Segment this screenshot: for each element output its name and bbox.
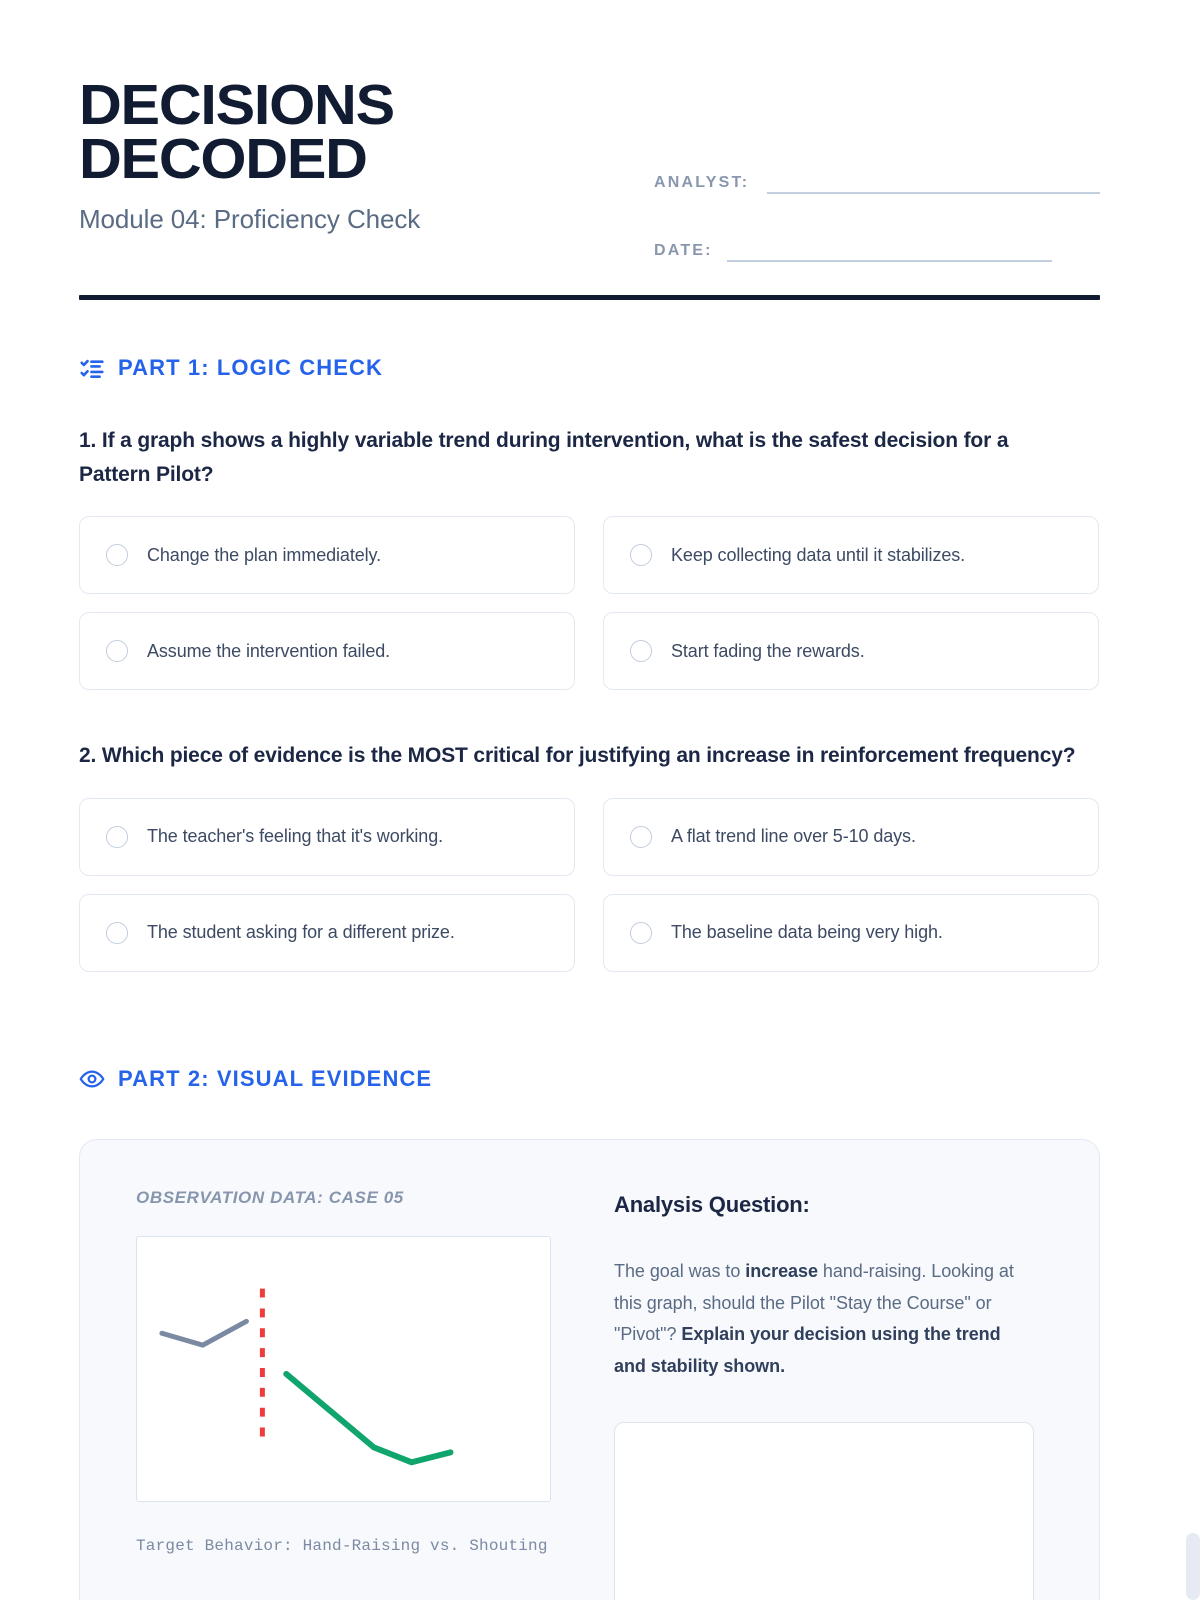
baseline-series-line xyxy=(162,1321,247,1345)
option-1a[interactable]: Change the plan immediately. xyxy=(79,516,575,594)
list-checks-icon xyxy=(79,355,105,381)
option-2d-label: The baseline data being very high. xyxy=(671,920,943,944)
meta-fields: ANALYST: DATE: xyxy=(654,146,1100,282)
worksheet-page: DECISIONS DECODED Module 04: Proficiency… xyxy=(0,0,1200,1600)
analysis-column: Analysis Question: The goal was to incre… xyxy=(614,1188,1055,1600)
date-field-row: DATE: xyxy=(654,214,1100,262)
evidence-chart-column: OBSERVATION DATA: CASE 05 Target Behavio… xyxy=(136,1188,556,1600)
analysis-text-1: The goal was to xyxy=(614,1261,745,1281)
evidence-panel: OBSERVATION DATA: CASE 05 Target Behavio… xyxy=(79,1139,1100,1600)
option-2a[interactable]: The teacher's feeling that it's working. xyxy=(79,798,575,876)
observation-chart xyxy=(136,1236,551,1502)
radio-icon[interactable] xyxy=(630,640,652,662)
section-heading-part2: PART 2: VISUAL EVIDENCE xyxy=(79,1066,432,1092)
analyst-label: ANALYST: xyxy=(654,174,749,194)
option-1b[interactable]: Keep collecting data until it stabilizes… xyxy=(603,516,1099,594)
option-2b[interactable]: A flat trend line over 5-10 days. xyxy=(603,798,1099,876)
option-2b-label: A flat trend line over 5-10 days. xyxy=(671,824,916,848)
radio-icon[interactable] xyxy=(106,640,128,662)
option-2c[interactable]: The student asking for a different prize… xyxy=(79,894,575,972)
option-1b-label: Keep collecting data until it stabilizes… xyxy=(671,543,965,567)
question-1: 1. If a graph shows a highly variable tr… xyxy=(79,424,1100,690)
option-1d[interactable]: Start fading the rewards. xyxy=(603,612,1099,690)
question-1-text-before: 1. If a graph shows a highly xyxy=(79,429,355,452)
section-heading-part1: PART 1: LOGIC CHECK xyxy=(79,355,383,381)
analysis-question-title: Analysis Question: xyxy=(614,1192,1055,1218)
section-heading-part2-label: PART 2: VISUAL EVIDENCE xyxy=(118,1066,432,1092)
section-heading-part1-label: PART 1: LOGIC CHECK xyxy=(118,355,383,381)
header-divider xyxy=(79,295,1100,300)
eye-icon xyxy=(79,1066,105,1092)
option-1a-label: Change the plan immediately. xyxy=(147,543,381,567)
question-1-text: 1. If a graph shows a highly variable tr… xyxy=(79,424,1079,491)
analyst-input[interactable] xyxy=(767,192,1100,194)
question-2-options: The teacher's feeling that it's working.… xyxy=(79,798,1100,972)
question-1-options: Change the plan immediately. Keep collec… xyxy=(79,516,1100,690)
option-2d[interactable]: The baseline data being very high. xyxy=(603,894,1099,972)
question-2-text: 2. Which piece of evidence is the MOST c… xyxy=(79,739,1079,773)
question-1-emphasis: variable xyxy=(355,429,433,452)
observation-data-kicker: OBSERVATION DATA: CASE 05 xyxy=(136,1188,556,1208)
option-1c[interactable]: Assume the intervention failed. xyxy=(79,612,575,690)
radio-icon[interactable] xyxy=(630,544,652,566)
scrollbar-thumb[interactable] xyxy=(1186,1533,1200,1600)
date-input[interactable] xyxy=(727,260,1052,262)
option-2a-label: The teacher's feeling that it's working. xyxy=(147,824,443,848)
radio-icon[interactable] xyxy=(630,826,652,848)
question-2: 2. Which piece of evidence is the MOST c… xyxy=(79,739,1100,972)
page-header: DECISIONS DECODED Module 04: Proficiency… xyxy=(79,78,1100,293)
option-1c-label: Assume the intervention failed. xyxy=(147,639,390,663)
radio-icon[interactable] xyxy=(630,922,652,944)
radio-icon[interactable] xyxy=(106,826,128,848)
analysis-answer-textarea[interactable] xyxy=(614,1422,1034,1600)
analysis-question-body: The goal was to increase hand-raising. L… xyxy=(614,1256,1032,1382)
chart-svg xyxy=(137,1237,550,1501)
option-1d-label: Start fading the rewards. xyxy=(671,639,865,663)
intervention-series-line xyxy=(286,1374,450,1462)
radio-icon[interactable] xyxy=(106,544,128,566)
analysis-bold-1: increase xyxy=(745,1261,818,1281)
radio-icon[interactable] xyxy=(106,922,128,944)
page-subtitle: Module 04: Proficiency Check xyxy=(79,204,639,235)
brand-block: DECISIONS DECODED Module 04: Proficiency… xyxy=(79,78,639,235)
option-2c-label: The student asking for a different prize… xyxy=(147,920,455,944)
date-label: DATE: xyxy=(654,242,713,262)
page-title: DECISIONS DECODED xyxy=(79,78,661,186)
analyst-field-row: ANALYST: xyxy=(654,146,1100,194)
brand-line-2: DECODED xyxy=(79,132,661,186)
chart-caption: Target Behavior: Hand-Raising vs. Shouti… xyxy=(136,1537,556,1555)
